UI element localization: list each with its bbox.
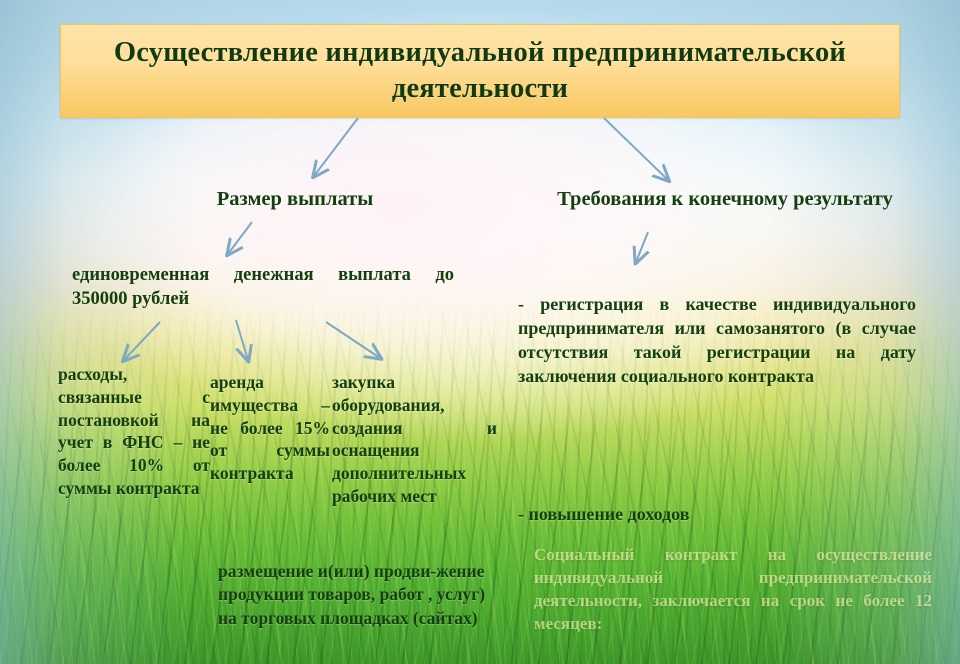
text-payment-item-expenses: расходы, связанные с постановкой на учет… [58,363,210,500]
text-payment-item-equipment: закупка оборудования, создания и оснащен… [332,371,497,508]
slide-canvas: Осуществление индивидуальной предпринима… [0,0,960,664]
text-contract-duration-note: Социальный контракт на осуществление инд… [534,543,932,635]
text-requirement-registration: - регистрация в качестве индивидуального… [518,293,916,389]
text-payment-item-promotion: размещение и(или) продви-жение продукции… [218,560,500,630]
text-payment-amount: единовременная денежная выплата до 35000… [72,263,454,311]
page-title: Осуществление индивидуальной предпринима… [61,35,899,108]
heading-payment-size: Размер выплаты [150,186,440,213]
title-banner: Осуществление индивидуальной предпринима… [60,24,900,118]
text-payment-item-rent: аренда имущества – не более 15% от суммы… [210,371,330,485]
heading-final-requirements: Требования к конечному результату [540,186,910,213]
text-requirement-income: - повышение доходов [518,503,916,527]
